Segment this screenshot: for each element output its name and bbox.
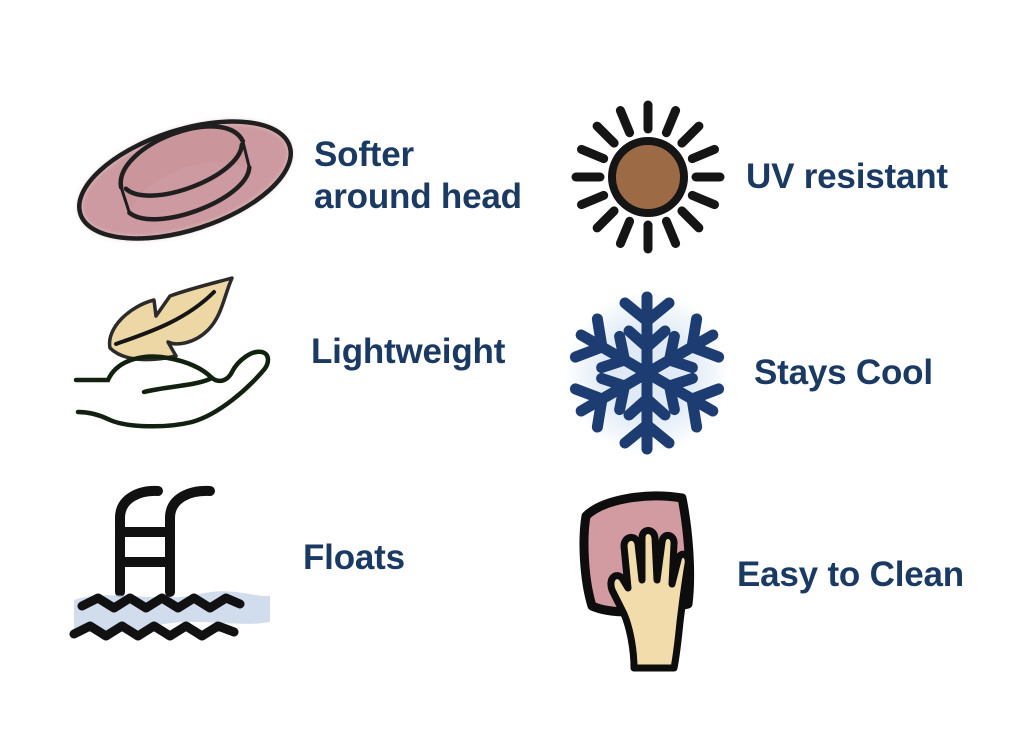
feature-clean-label: Easy to Clean xyxy=(737,554,964,595)
sun-disc xyxy=(612,141,684,213)
sun-hat-icon xyxy=(70,98,300,253)
snowflake-icon xyxy=(562,288,732,458)
feature-easy-to-clean: Easy to Clean xyxy=(572,480,964,670)
feature-stays-cool: Stays Cool xyxy=(562,288,933,458)
open-hand-icon xyxy=(76,352,268,427)
sun-icon xyxy=(568,92,728,262)
feature-cool-label: Stays Cool xyxy=(754,352,933,393)
pool-ladder-water-icon xyxy=(70,470,285,645)
feature-lightweight: Lightweight xyxy=(72,272,505,432)
feature-softer-around-head: Softer around head xyxy=(70,98,522,253)
feature-uv-label: UV resistant xyxy=(746,156,948,197)
feather-on-hand-icon-container xyxy=(72,272,297,432)
pool-ladder-icon xyxy=(120,491,210,592)
feature-floats: Floats xyxy=(70,470,405,645)
hand-icon xyxy=(611,531,688,669)
feature-icon-board: Softer around head xyxy=(0,0,1032,729)
sun-hat-icon-container xyxy=(70,98,300,253)
feature-softer-label: Softer around head xyxy=(314,134,522,217)
hand-wiping-cloth-icon-container xyxy=(572,480,717,670)
snowflake-icon-container xyxy=(562,288,732,458)
feature-floats-label: Floats xyxy=(303,537,405,578)
sun-icon-container xyxy=(568,92,728,262)
hand-wiping-cloth-icon xyxy=(572,480,717,670)
feature-uv-resistant: UV resistant xyxy=(568,92,948,262)
feature-lightweight-label: Lightweight xyxy=(311,331,505,372)
feather-icon xyxy=(110,278,232,360)
pool-ladder-water-icon-container xyxy=(70,470,285,645)
feather-on-hand-icon xyxy=(72,272,297,432)
